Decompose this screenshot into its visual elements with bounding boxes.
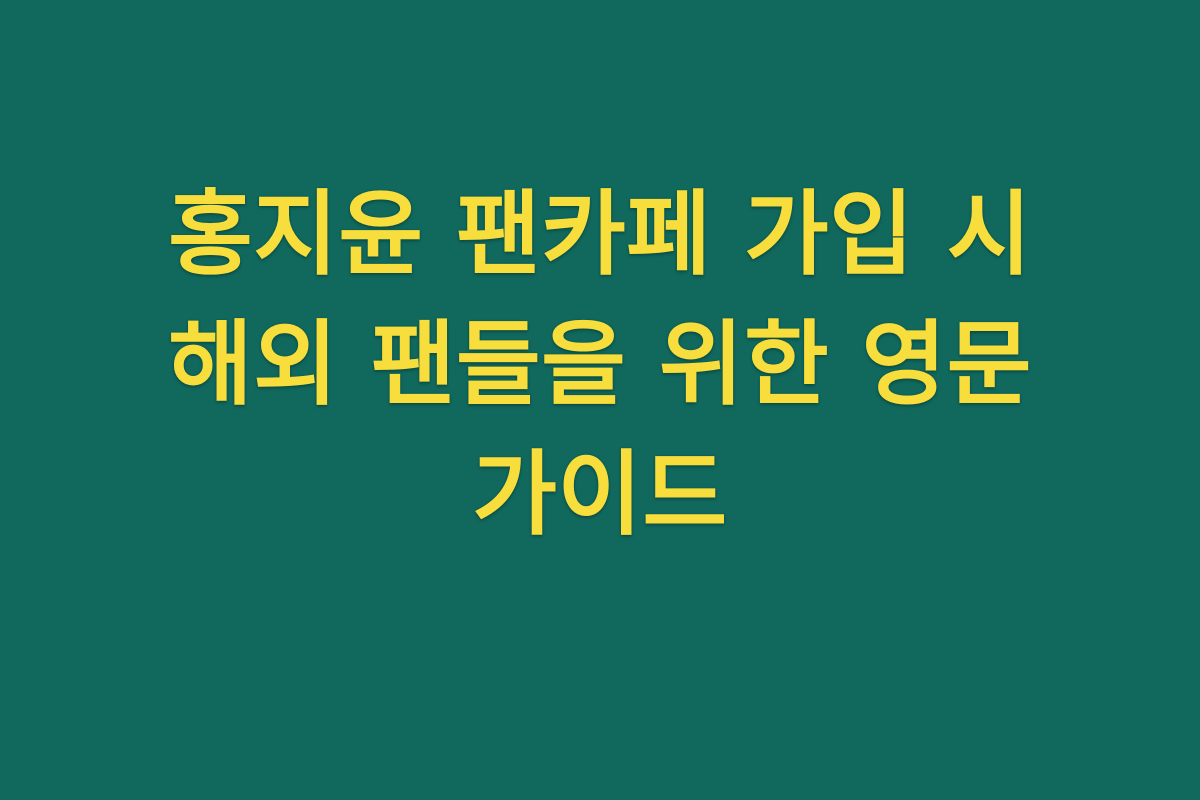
title-line-1: 홍지윤 팬카페 가입 시: [168, 170, 1032, 300]
title-card-background: 홍지윤 팬카페 가입 시 해외 팬들을 위한 영문 가이드: [0, 0, 1200, 800]
title-line-3: 가이드: [472, 430, 727, 560]
page-title: 홍지윤 팬카페 가입 시 해외 팬들을 위한 영문 가이드: [60, 170, 1140, 560]
title-line-2: 해외 팬들을 위한 영문: [168, 300, 1032, 430]
